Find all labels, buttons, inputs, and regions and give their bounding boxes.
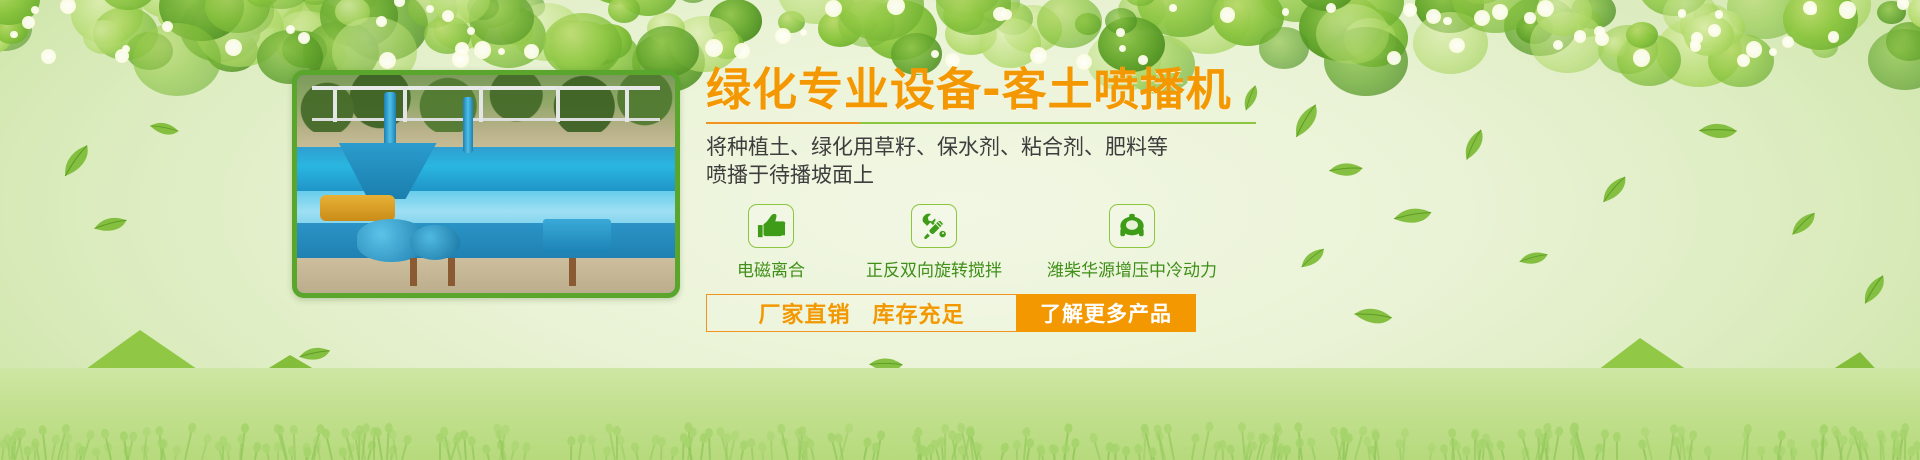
selling-points-bar: 厂家直销 库存充足: [706, 294, 1016, 332]
feature-item-engine-power: 潍柴华源增压中冷动力: [1032, 204, 1232, 281]
banner-title: 绿化专业设备-客土喷播机: [706, 66, 1406, 113]
photo-pipe-right: [463, 97, 473, 154]
product-photo: [292, 70, 680, 298]
feature-list: 电磁离合: [706, 204, 1406, 281]
subtitle-line-1: 将种植土、绿化用草籽、保水剂、粘合剂、肥料等: [706, 133, 1406, 161]
feature-icon-box: [911, 204, 957, 248]
photo-ground: [297, 258, 675, 293]
title-divider: [706, 122, 1256, 124]
leaf-icon: [1597, 176, 1633, 207]
thumbs-up-icon: [756, 212, 786, 240]
photo-machine-lower: [297, 223, 675, 262]
photo-control-box: [543, 219, 611, 252]
photo-drum: [320, 195, 396, 221]
photo-support-leg: [569, 258, 576, 286]
photo-railing: [312, 86, 660, 121]
leaf-icon: [1696, 113, 1738, 152]
leaf-icon: [1788, 212, 1821, 240]
banner-subtitle: 将种植土、绿化用草籽、保水剂、粘合剂、肥料等 喷播于待播坡面上: [706, 133, 1406, 189]
feature-label: 潍柴华源增压中冷动力: [1047, 256, 1217, 281]
leaf-icon: [56, 144, 97, 181]
banner-content: 绿化专业设备-客土喷播机 将种植土、绿化用草籽、保水剂、粘合剂、肥料等 喷播于待…: [706, 66, 1406, 332]
photo-support-leg: [410, 258, 417, 286]
feature-label: 电磁离合: [737, 256, 805, 281]
feature-icon-box: [1109, 204, 1155, 248]
feature-item-electromagnetic-clutch: 电磁离合: [706, 204, 836, 281]
cta-row: 厂家直销 库存充足 了解更多产品: [706, 294, 1196, 332]
leaf-icon: [93, 212, 128, 242]
leaf-icon: [147, 114, 180, 146]
feature-icon-box: [748, 204, 794, 248]
promo-banner: 绿化专业设备-客土喷播机 将种植土、绿化用草籽、保水剂、粘合剂、肥料等 喷播于待…: [0, 0, 1920, 460]
selling-point-right: 库存充足: [873, 297, 965, 329]
feature-item-bidirectional-mixing: 正反双向旋转搅拌: [836, 204, 1032, 281]
leaf-icon: [1456, 128, 1494, 164]
selling-point-left: 厂家直销: [758, 297, 850, 329]
subtitle-line-2: 喷播于待播坡面上: [706, 161, 1406, 189]
learn-more-button[interactable]: 了解更多产品: [1016, 294, 1196, 332]
wrench-screwdriver-icon: [919, 211, 949, 241]
feature-label: 正反双向旋转搅拌: [866, 256, 1002, 281]
engine-power-icon: [1117, 212, 1147, 240]
photo-support-leg: [448, 258, 455, 286]
photo-motor-secondary: [410, 225, 459, 260]
